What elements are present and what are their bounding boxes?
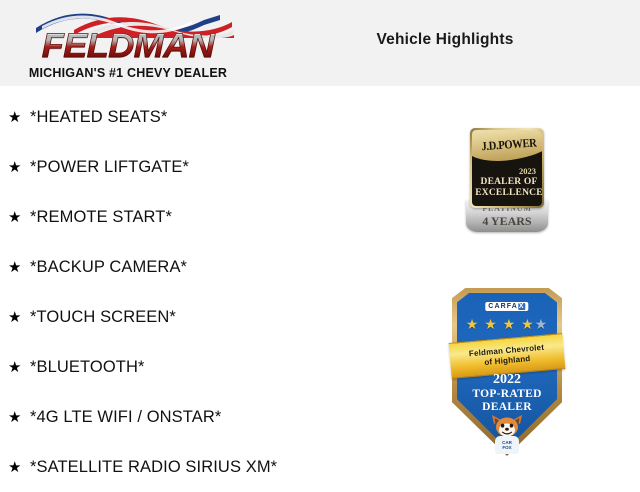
jd-power-year: 2023 — [472, 166, 542, 176]
star-bullet-icon: ★ — [8, 210, 30, 225]
jd-power-plaque: J.D.POWER 2023 DEALER OF EXCELLENCE — [470, 128, 544, 208]
highlight-label: *SATELLITE RADIO SIRIUS XM* — [30, 458, 277, 477]
dealer-logo: FELDMAN MICHIGAN'S #1 CHEVY DEALER — [14, 6, 242, 82]
highlight-label: *POWER LIFTGATE* — [30, 158, 189, 177]
list-item: ★ *4G LTE WIFI / ONSTAR* — [0, 392, 400, 442]
vehicle-highlights-list: ★ *HEATED SEATS* ★ *POWER LIFTGATE* ★ *R… — [0, 92, 400, 492]
car-fox-shirt-text: CAR FOX — [498, 440, 516, 450]
carfax-award-year: 2022 — [452, 372, 562, 388]
page-title: Vehicle Highlights — [250, 31, 640, 49]
jd-power-plaque-inner: J.D.POWER 2023 DEALER OF EXCELLENCE — [472, 130, 542, 206]
highlight-label: *BACKUP CAMERA* — [30, 258, 187, 277]
star-bullet-icon: ★ — [8, 110, 30, 125]
jd-power-award-line1: DEALER OF — [472, 177, 542, 187]
list-item: ★ *BLUETOOTH* — [0, 342, 400, 392]
list-item: ★ *SATELLITE RADIO SIRIUS XM* — [0, 442, 400, 492]
car-fox-mascot-icon: CAR FOX — [489, 414, 525, 454]
carfax-logo: CARFAX — [485, 302, 528, 311]
list-item: ★ *REMOTE START* — [0, 192, 400, 242]
car-fox-shirt-line2: FOX — [498, 445, 516, 450]
star-bullet-icon: ★ — [8, 360, 30, 375]
carfax-star-rating: ★ ★ ★ ★★ — [452, 316, 562, 333]
carfax-top-rated-dealer-badge: CARFAX ★ ★ ★ ★★ Feldman Chevrolet of Hig… — [452, 288, 562, 456]
star-bullet-icon: ★ — [8, 410, 30, 425]
jd-power-award-badge: PLATINUM 4 YEARS J.D.POWER 2023 DEALER O… — [466, 128, 548, 232]
carfax-logo-suffix: X — [518, 303, 526, 310]
logo-wordmark: FELDMAN — [7, 28, 249, 64]
highlight-label: *BLUETOOTH* — [30, 358, 145, 377]
logo-tagline: MICHIGAN'S #1 CHEVY DEALER — [14, 66, 242, 80]
highlight-label: *4G LTE WIFI / ONSTAR* — [30, 408, 221, 427]
list-item: ★ *POWER LIFTGATE* — [0, 142, 400, 192]
list-item: ★ *BACKUP CAMERA* — [0, 242, 400, 292]
carfax-award-line1: TOP-RATED — [452, 388, 562, 400]
list-item: ★ *TOUCH SCREEN* — [0, 292, 400, 342]
carfax-award-line2: DEALER — [452, 401, 562, 413]
jd-power-duration: 4 YEARS — [466, 214, 548, 229]
carfax-logo-prefix: CARFA — [488, 303, 518, 310]
list-item: ★ *HEATED SEATS* — [0, 92, 400, 142]
star-bullet-icon: ★ — [8, 310, 30, 325]
highlight-label: *REMOTE START* — [30, 208, 172, 227]
carfax-star-fifth: ★ — [535, 316, 549, 332]
highlight-label: *TOUCH SCREEN* — [30, 308, 176, 327]
star-bullet-icon: ★ — [8, 160, 30, 175]
highlight-label: *HEATED SEATS* — [30, 108, 167, 127]
star-bullet-icon: ★ — [8, 460, 30, 475]
star-bullet-icon: ★ — [8, 260, 30, 275]
jd-power-award-line2: EXCELLENCE — [472, 188, 542, 198]
carfax-stars-filled: ★ ★ ★ ★ — [466, 316, 535, 332]
